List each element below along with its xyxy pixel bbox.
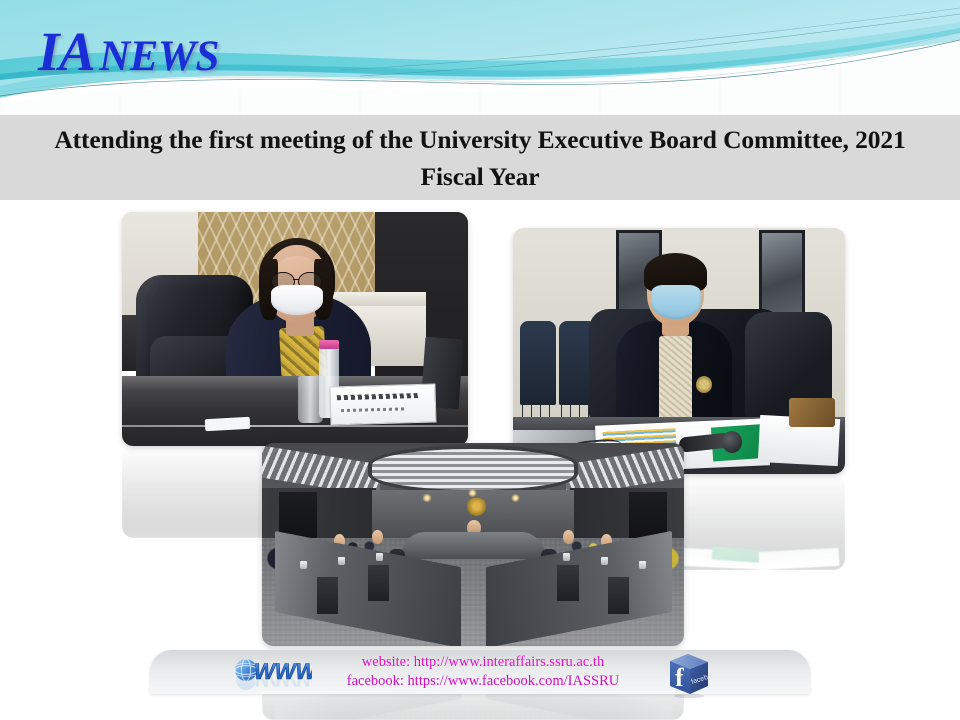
page-title: Attending the first meeting of the Unive… xyxy=(30,121,930,195)
photo-2-content xyxy=(513,228,845,474)
leather-bag xyxy=(789,398,835,428)
attendee-head-l3 xyxy=(372,530,383,544)
blazer-emblem-badge xyxy=(696,376,713,393)
nameplate-text-line-2 xyxy=(341,407,405,412)
brand-ia: IA xyxy=(38,21,95,82)
person-patterned-shirt xyxy=(659,336,692,429)
desk-nameplate xyxy=(329,384,436,426)
table-modesty-panel-r1 xyxy=(608,577,629,614)
royal-emblem xyxy=(467,498,486,516)
photo-1-content xyxy=(122,212,468,446)
nameplate-text-line-1 xyxy=(337,393,420,400)
table-center-section xyxy=(401,532,544,558)
facebook-line[interactable]: facebook: https://www.facebook.com/IASSR… xyxy=(298,672,668,691)
page-title-line1: Attending the first meeting of the Unive… xyxy=(54,125,716,154)
table-modesty-panel-l2 xyxy=(368,565,389,602)
water-glass-5 xyxy=(601,557,608,565)
svg-text:f: f xyxy=(675,663,684,692)
brand-news: NEWS xyxy=(99,33,219,80)
blue-surgical-mask xyxy=(651,285,701,319)
paper-on-table xyxy=(205,417,251,431)
table-edge-highlight xyxy=(122,425,468,427)
photo-3-content xyxy=(262,443,684,646)
water-glass-2 xyxy=(338,557,345,565)
ceiling-center-light-panel xyxy=(372,449,575,490)
water-glass-4 xyxy=(639,561,646,569)
spotlight-1 xyxy=(422,494,431,502)
stacking-chair-1 xyxy=(520,321,557,405)
water-bottle-pink-cap xyxy=(319,340,338,349)
facebook-icon[interactable]: f facebook xyxy=(666,650,712,698)
white-face-mask xyxy=(271,285,323,315)
website-line[interactable]: website: http://www.interaffairs.ssru.ac… xyxy=(298,653,668,672)
brand-logo: IANEWS xyxy=(38,24,219,79)
water-glass-3 xyxy=(376,553,383,561)
spotlight-3 xyxy=(468,489,477,497)
photo-conference-room-overview xyxy=(262,443,684,646)
footer-links: website: http://www.interaffairs.ssru.ac… xyxy=(298,653,668,691)
water-glass-6 xyxy=(563,553,570,561)
photo-man-at-meeting-table xyxy=(513,228,845,474)
table-modesty-panel-r2 xyxy=(557,565,578,602)
water-glass-1 xyxy=(300,561,307,569)
title-bar: Attending the first meeting of the Unive… xyxy=(0,115,960,200)
photo-collage xyxy=(0,200,960,660)
photo-woman-at-meeting-table xyxy=(122,212,468,446)
table-modesty-panel-l1 xyxy=(317,577,338,614)
header-banner: IANEWS xyxy=(0,0,960,115)
microphone-head xyxy=(722,431,742,453)
spotlight-2 xyxy=(511,494,520,502)
eyeglasses-bridge xyxy=(293,279,299,280)
news-slide: IANEWS Attending the first meeting of th… xyxy=(0,0,960,720)
